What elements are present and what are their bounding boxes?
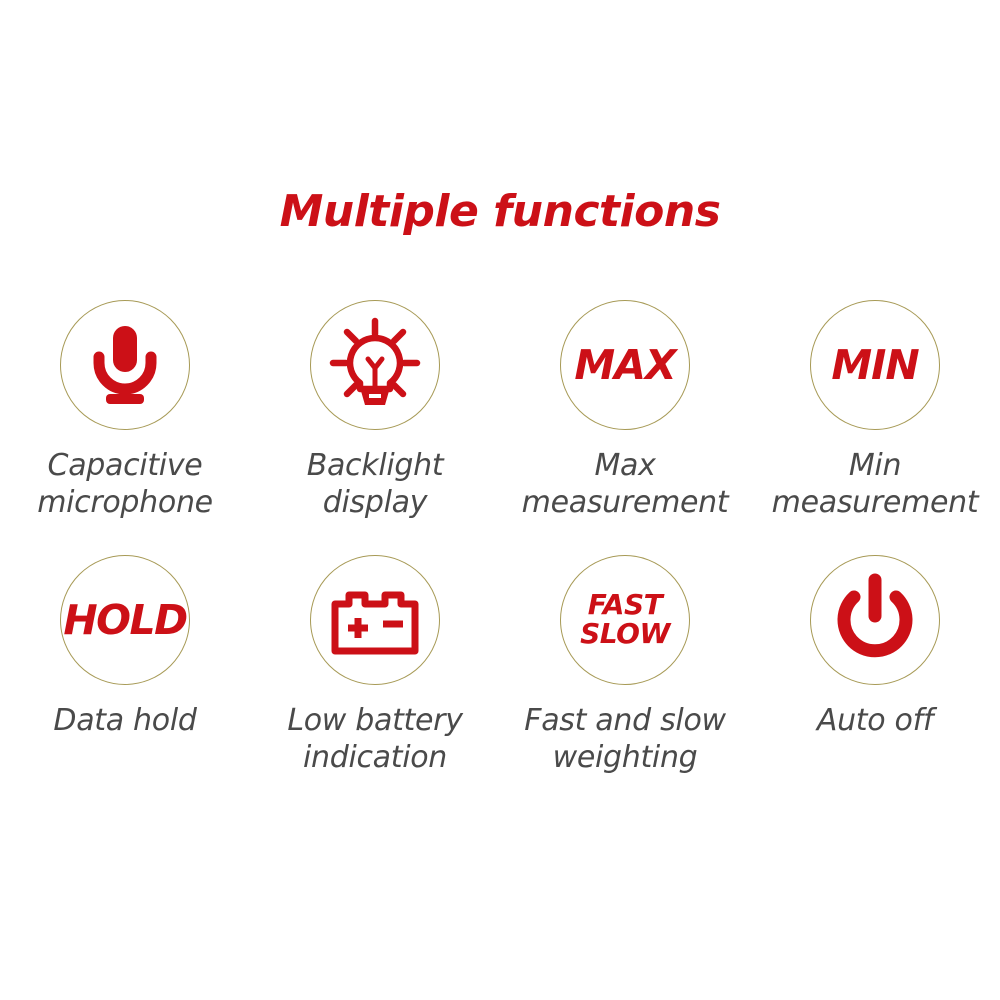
feature-caption: Min measurement	[750, 448, 1000, 521]
caption-line-2: weighting	[500, 740, 750, 777]
caption-line-2: display	[250, 485, 500, 522]
caption-line-2: microphone	[0, 485, 250, 522]
min-text-icon: MIN	[831, 345, 918, 386]
caption-line-1: Backlight	[250, 448, 500, 485]
icon-circle: MAX	[560, 300, 690, 430]
caption-line-2: indication	[250, 740, 500, 777]
feature-caption: Capacitive microphone	[0, 448, 250, 521]
fast-label: FAST	[580, 591, 670, 620]
battery-icon	[332, 586, 418, 654]
fast-slow-text-icon: FAST SLOW	[580, 591, 670, 648]
caption-line-2: measurement	[750, 485, 1000, 522]
microphone-icon	[86, 324, 164, 406]
caption-line-1: Fast and slow	[500, 703, 750, 740]
caption-line-1: Max	[500, 448, 750, 485]
icon-circle	[310, 300, 440, 430]
icon-circle	[810, 555, 940, 685]
power-icon	[833, 576, 917, 664]
feature-auto-off: Auto off	[750, 555, 1000, 810]
feature-caption: Fast and slow weighting	[500, 703, 750, 776]
feature-max-measurement: MAX Max measurement	[500, 300, 750, 555]
feature-caption: Data hold	[0, 703, 250, 740]
feature-min-measurement: MIN Min measurement	[750, 300, 1000, 555]
caption-line-1: Auto off	[750, 703, 1000, 740]
feature-caption: Low battery indication	[250, 703, 500, 776]
icon-circle: FAST SLOW	[560, 555, 690, 685]
caption-line-1: Low battery	[250, 703, 500, 740]
feature-caption: Auto off	[750, 703, 1000, 740]
caption-line-1: Capacitive	[0, 448, 250, 485]
feature-grid-page: Multiple functions Capacitive microphone	[0, 0, 1000, 1000]
hold-text-icon: HOLD	[63, 600, 186, 641]
lightbulb-icon	[330, 319, 420, 411]
caption-line-2: measurement	[500, 485, 750, 522]
features-grid: Capacitive microphone	[0, 300, 1000, 810]
slow-label: SLOW	[580, 620, 670, 649]
caption-line-1: Min	[750, 448, 1000, 485]
icon-circle: MIN	[810, 300, 940, 430]
caption-line-1: Data hold	[0, 703, 250, 740]
feature-backlight-display: Backlight display	[250, 300, 500, 555]
icon-circle	[60, 300, 190, 430]
feature-fast-slow-weighting: FAST SLOW Fast and slow weighting	[500, 555, 750, 810]
feature-caption: Backlight display	[250, 448, 500, 521]
feature-capacitive-microphone: Capacitive microphone	[0, 300, 250, 555]
feature-low-battery-indication: Low battery indication	[250, 555, 500, 810]
feature-caption: Max measurement	[500, 448, 750, 521]
feature-data-hold: HOLD Data hold	[0, 555, 250, 810]
icon-circle	[310, 555, 440, 685]
max-text-icon: MAX	[574, 345, 675, 386]
icon-circle: HOLD	[60, 555, 190, 685]
page-title: Multiple functions	[0, 186, 1000, 237]
